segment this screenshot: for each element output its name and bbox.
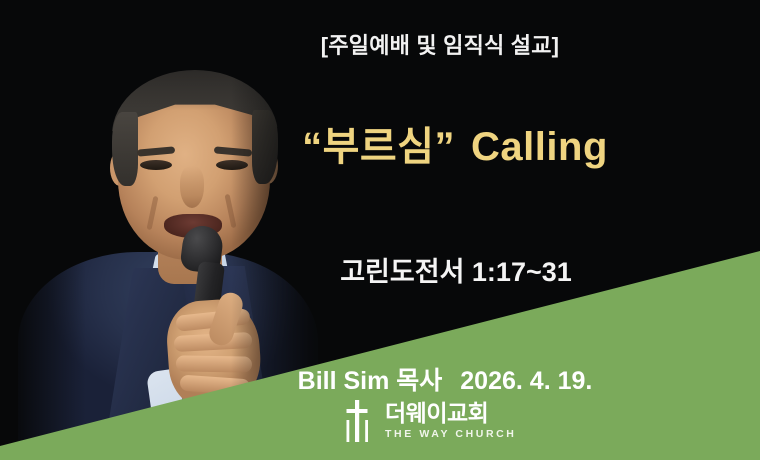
nose <box>180 166 204 208</box>
sermon-title-korean: “부르심” <box>302 125 455 169</box>
church-name-english: THE WAY CHURCH <box>385 429 517 440</box>
sermon-title: “부르심”Calling <box>0 114 760 172</box>
sermon-title-english: Calling <box>471 125 608 169</box>
church-name-korean: 더웨이교회 <box>385 402 517 425</box>
church-logo: 더웨이교회 THE WAY CHURCH <box>340 398 517 444</box>
sermon-date: 2026. 4. 19. <box>460 367 592 395</box>
speaker-and-date: Bill Sim 목사2026. 4. 19. <box>0 361 760 397</box>
scripture-reference: 고린도전서 1:17~31 <box>0 250 760 289</box>
church-logo-wordmark: 더웨이교회 THE WAY CHURCH <box>385 402 517 440</box>
cross-icon <box>340 398 376 444</box>
service-kicker: [주일예배 및 임직식 설교] <box>0 28 760 60</box>
sermon-title-slide: [주일예배 및 임직식 설교] “부르심”Calling 고린도전서 1:17~… <box>0 0 760 460</box>
speaker-name: Bill Sim 목사 <box>298 367 443 395</box>
